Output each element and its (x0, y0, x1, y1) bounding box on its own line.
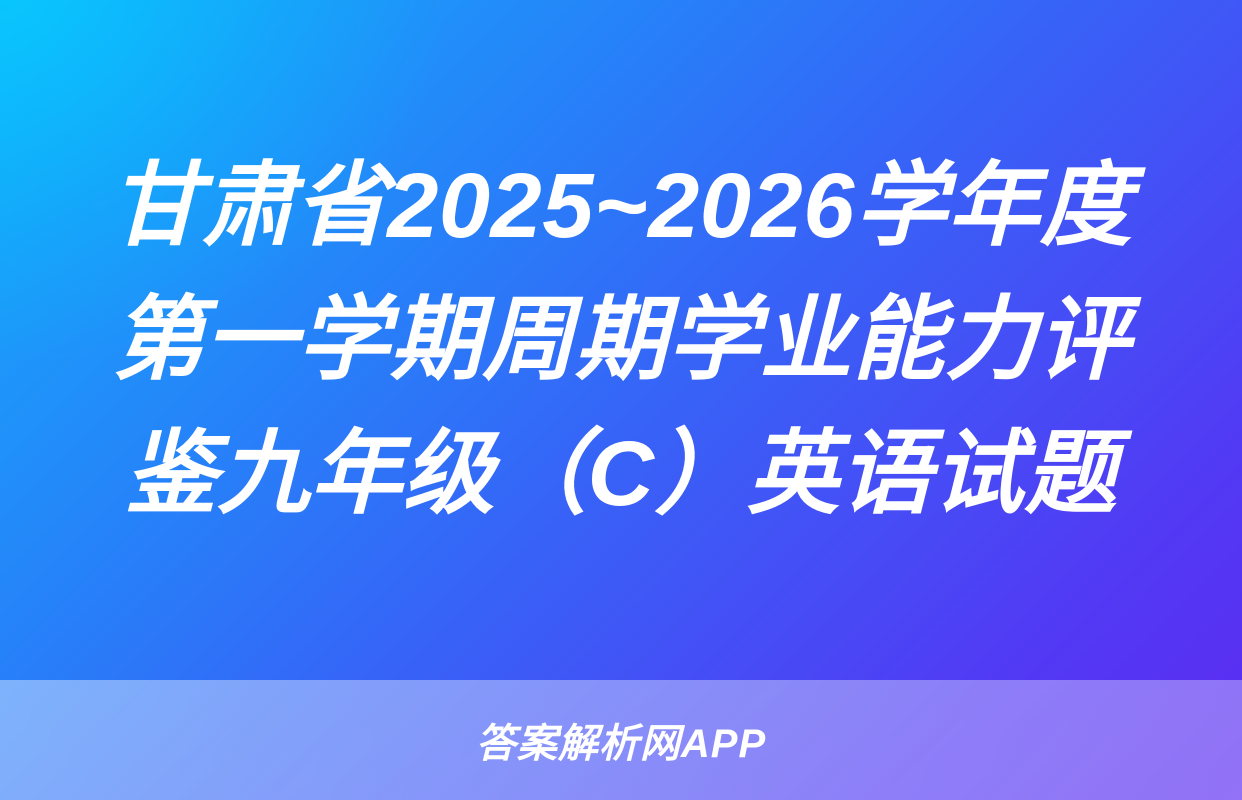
title-area: 甘肃省2025~2026学年度第一学期周期学业能力评鉴九年级（C）英语试题 (0, 0, 1242, 680)
poster-canvas: 甘肃省2025~2026学年度第一学期周期学业能力评鉴九年级（C）英语试题 答案… (0, 0, 1242, 800)
page-title: 甘肃省2025~2026学年度第一学期周期学业能力评鉴九年级（C）英语试题 (76, 139, 1166, 542)
footer-band: 答案解析网APP (0, 680, 1242, 800)
app-watermark-label: 答案解析网APP (476, 711, 766, 769)
